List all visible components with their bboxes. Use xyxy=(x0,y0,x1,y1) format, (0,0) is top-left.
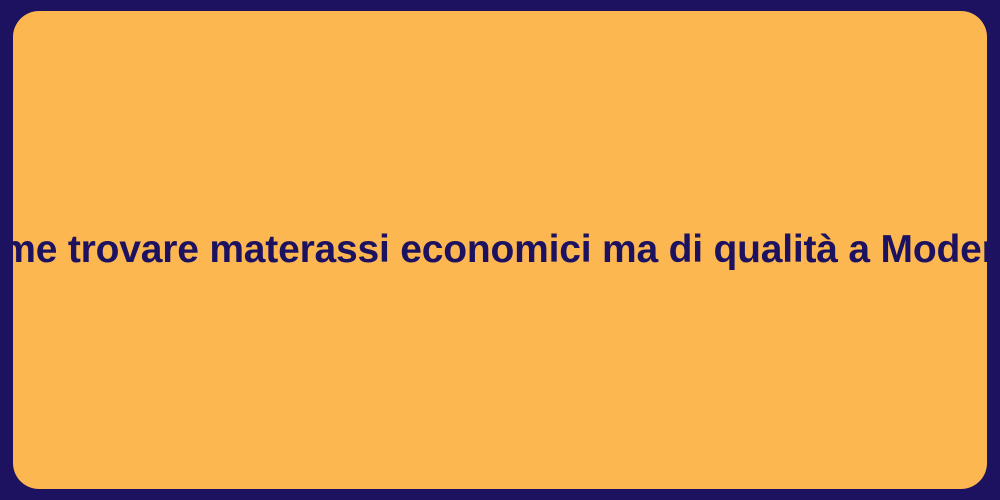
banner-panel: Come trovare materassi economici ma di q… xyxy=(13,11,987,489)
banner-headline: Come trovare materassi economici ma di q… xyxy=(13,228,987,273)
banner-card: Come trovare materassi economici ma di q… xyxy=(0,0,1000,500)
